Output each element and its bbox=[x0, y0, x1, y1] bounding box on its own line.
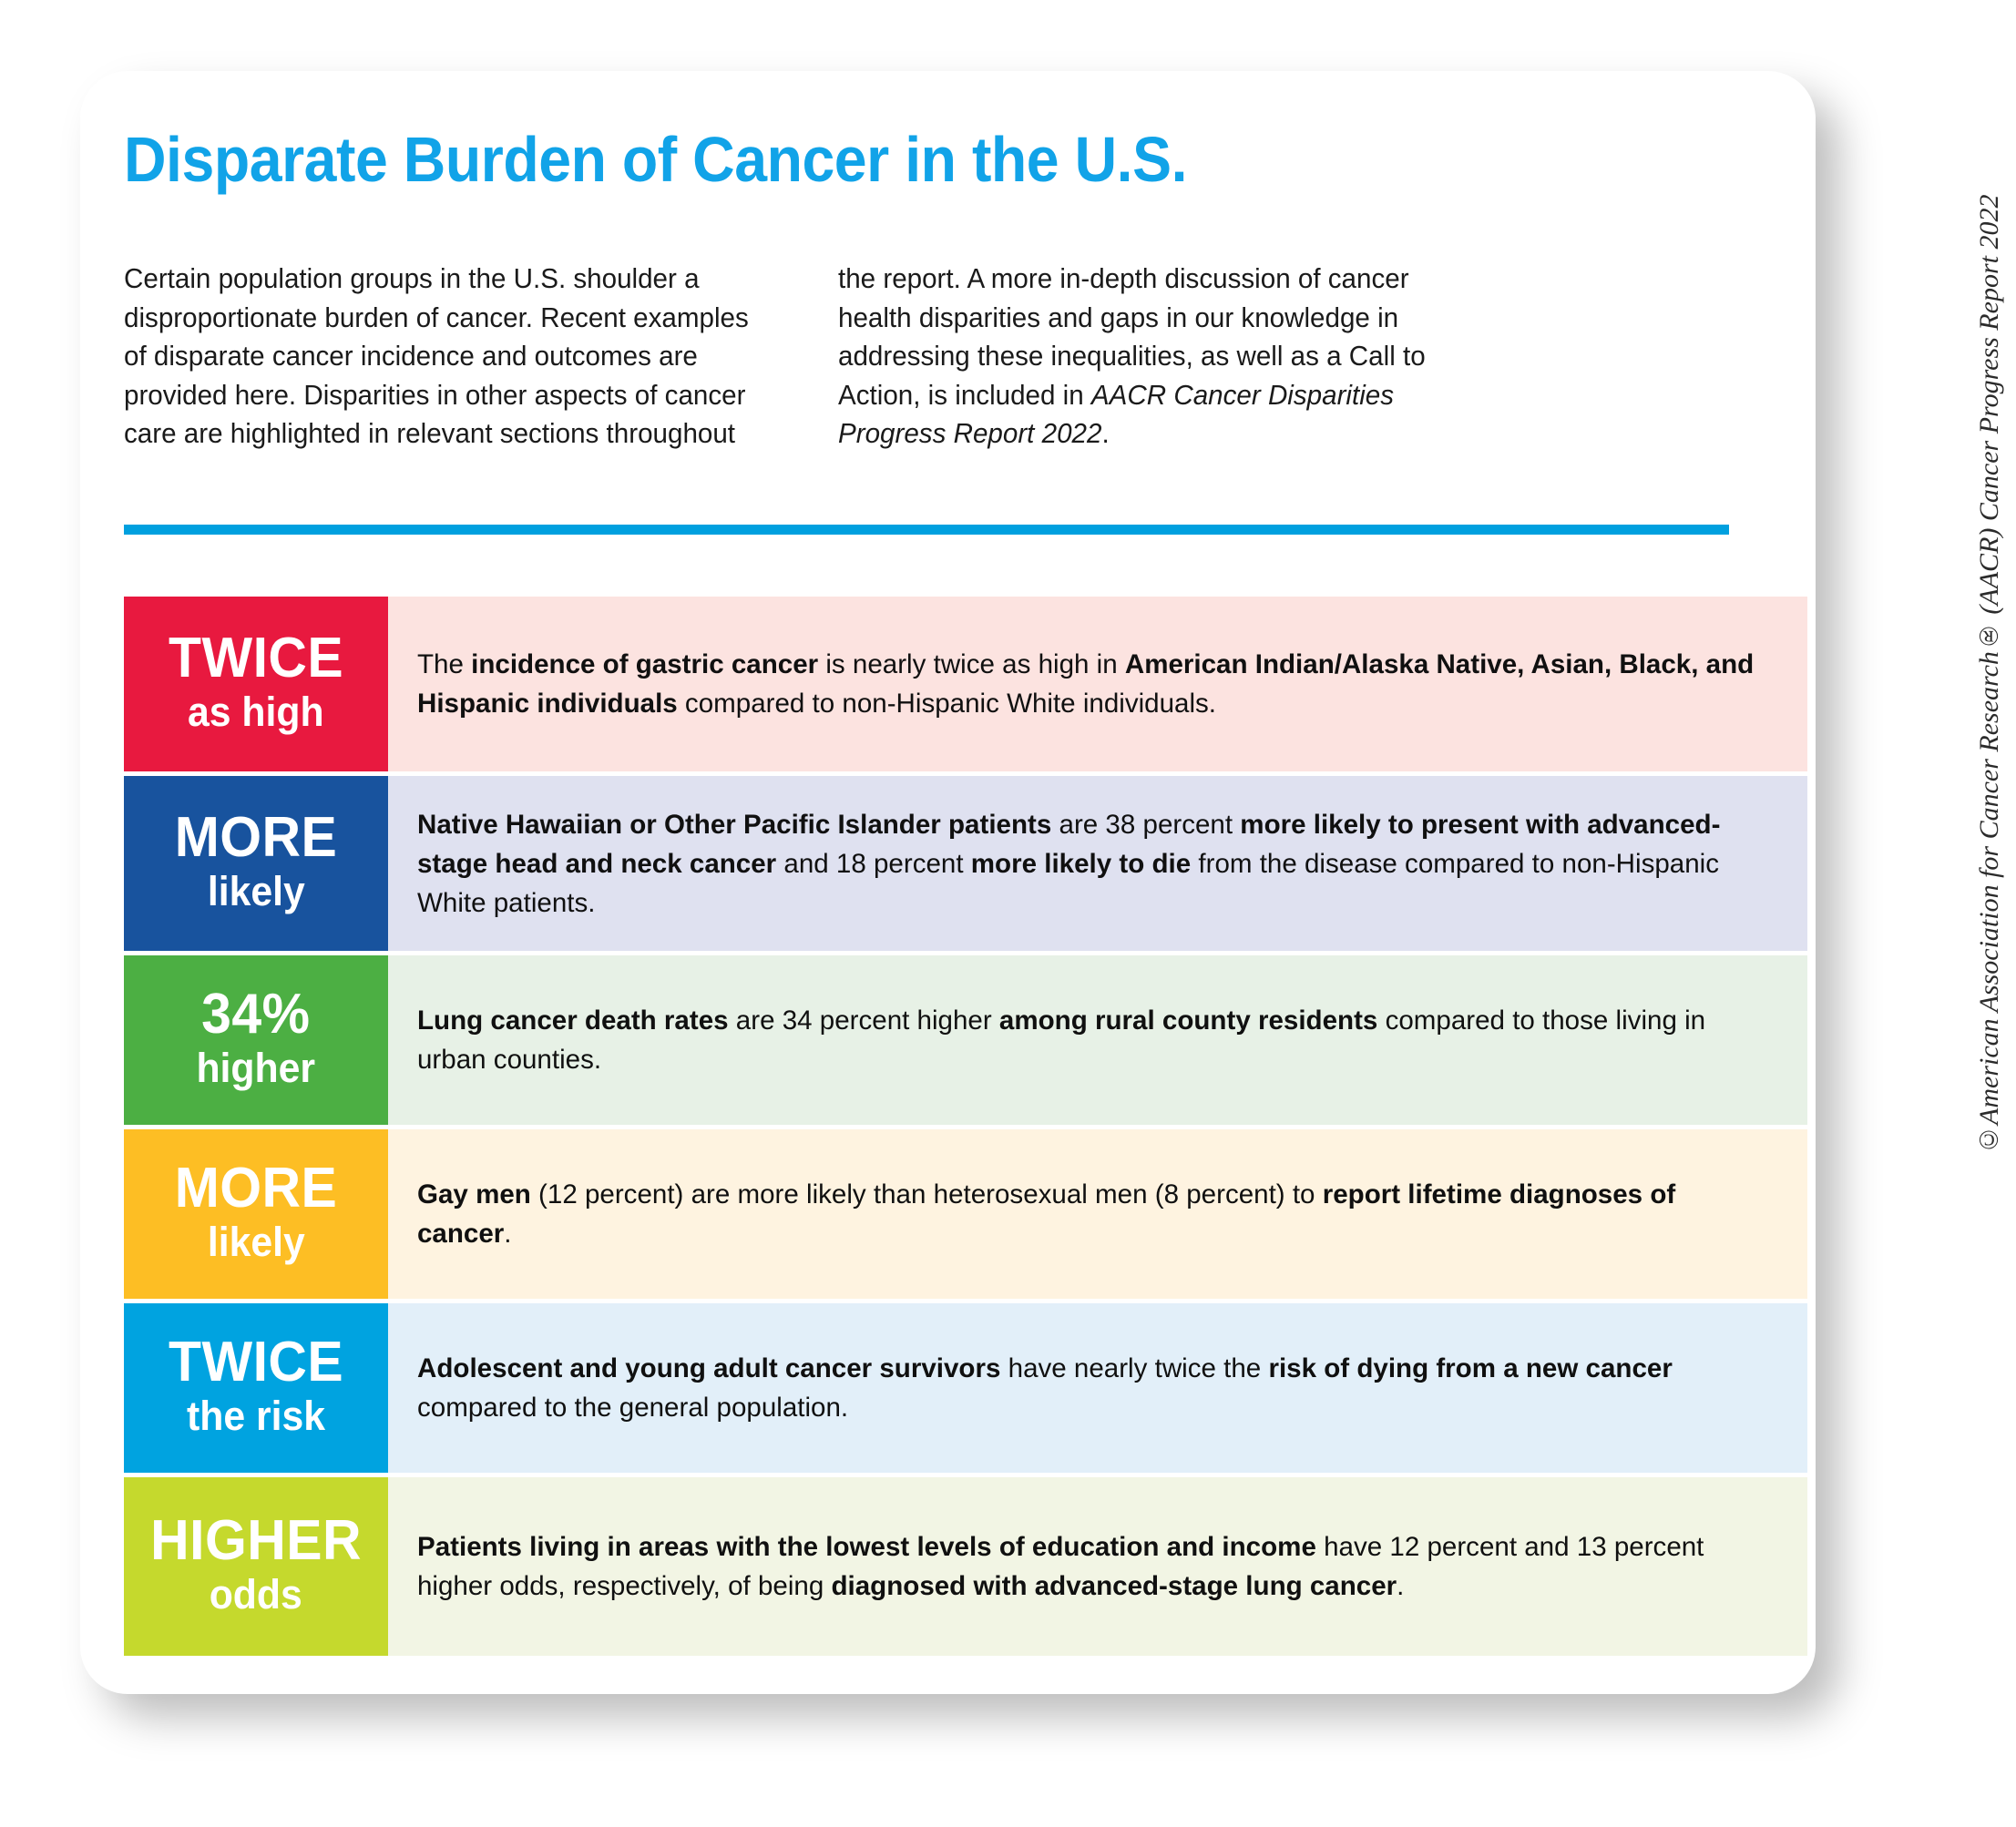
intro-right-suffix: . bbox=[1101, 418, 1109, 449]
stat-row-label-headline: HIGHER bbox=[150, 1513, 362, 1569]
stat-row: TWICE the risk Adolescent and young adul… bbox=[124, 1303, 1807, 1473]
stat-row-label-block: 34% higher bbox=[124, 955, 388, 1125]
page-canvas: Disparate Burden of Cancer in the U.S. C… bbox=[0, 0, 2016, 1827]
stat-row-body-panel: Gay men (12 percent) are more likely tha… bbox=[388, 1129, 1807, 1299]
stat-row: TWICE as high The incidence of gastric c… bbox=[124, 597, 1807, 771]
stat-row: HIGHER odds Patients living in areas wit… bbox=[124, 1477, 1807, 1656]
stat-row-label-headline: TWICE bbox=[169, 1334, 343, 1391]
stat-row-body-panel: Lung cancer death rates are 34 percent h… bbox=[388, 955, 1807, 1125]
stat-row-body-text: Lung cancer death rates are 34 percent h… bbox=[417, 1001, 1756, 1079]
stat-row-body-text: Gay men (12 percent) are more likely tha… bbox=[417, 1175, 1756, 1253]
copyright-notice: ©American Association for Cancer Researc… bbox=[1969, 80, 2011, 1155]
stat-row: MORE likely Native Hawaiian or Other Pac… bbox=[124, 776, 1807, 951]
stat-row-label-subline: as high bbox=[188, 687, 324, 738]
stat-rows-list: TWICE as high The incidence of gastric c… bbox=[124, 597, 1807, 1656]
stat-row-label-subline: likely bbox=[208, 1217, 305, 1268]
stat-row: MORE likely Gay men (12 percent) are mor… bbox=[124, 1129, 1807, 1299]
intro-text: Certain population groups in the U.S. sh… bbox=[124, 260, 1735, 454]
stat-row-label-subline: likely bbox=[208, 866, 305, 917]
stat-row-body-text: Adolescent and young adult cancer surviv… bbox=[417, 1349, 1756, 1427]
blue-divider-rule bbox=[124, 525, 1729, 535]
stat-row-label-headline: MORE bbox=[175, 1160, 338, 1217]
stat-row-body-panel: The incidence of gastric cancer is nearl… bbox=[388, 597, 1807, 771]
stat-row-label-headline: MORE bbox=[175, 810, 338, 866]
stat-row-label-block: HIGHER odds bbox=[124, 1477, 388, 1656]
stat-row-label-block: TWICE as high bbox=[124, 597, 388, 771]
page-title: Disparate Burden of Cancer in the U.S. bbox=[124, 124, 1599, 195]
stat-row-body-text: Native Hawaiian or Other Pacific Islande… bbox=[417, 805, 1756, 923]
intro-column-right: the report. A more in-depth discussion o… bbox=[838, 260, 1468, 454]
stat-row-label-subline: odds bbox=[210, 1569, 302, 1620]
infographic-card: Disparate Burden of Cancer in the U.S. C… bbox=[80, 71, 1816, 1694]
intro-column-left: Certain population groups in the U.S. sh… bbox=[124, 260, 753, 454]
stat-row-label-subline: higher bbox=[197, 1043, 316, 1094]
stat-row-body-panel: Patients living in areas with the lowest… bbox=[388, 1477, 1807, 1656]
stat-row-label-headline: TWICE bbox=[169, 630, 343, 687]
stat-row-body-text: Patients living in areas with the lowest… bbox=[417, 1527, 1756, 1606]
stat-row-body-panel: Native Hawaiian or Other Pacific Islande… bbox=[388, 776, 1807, 951]
stat-row-label-block: MORE likely bbox=[124, 1129, 388, 1299]
stat-row-label-block: MORE likely bbox=[124, 776, 388, 951]
stat-row-body-panel: Adolescent and young adult cancer surviv… bbox=[388, 1303, 1807, 1473]
stat-row: 34% higher Lung cancer death rates are 3… bbox=[124, 955, 1807, 1125]
stat-row-label-subline: the risk bbox=[187, 1391, 325, 1442]
stat-row-body-text: The incidence of gastric cancer is nearl… bbox=[417, 645, 1756, 723]
stat-row-label-headline: 34% bbox=[201, 986, 310, 1043]
stat-row-label-block: TWICE the risk bbox=[124, 1303, 388, 1473]
